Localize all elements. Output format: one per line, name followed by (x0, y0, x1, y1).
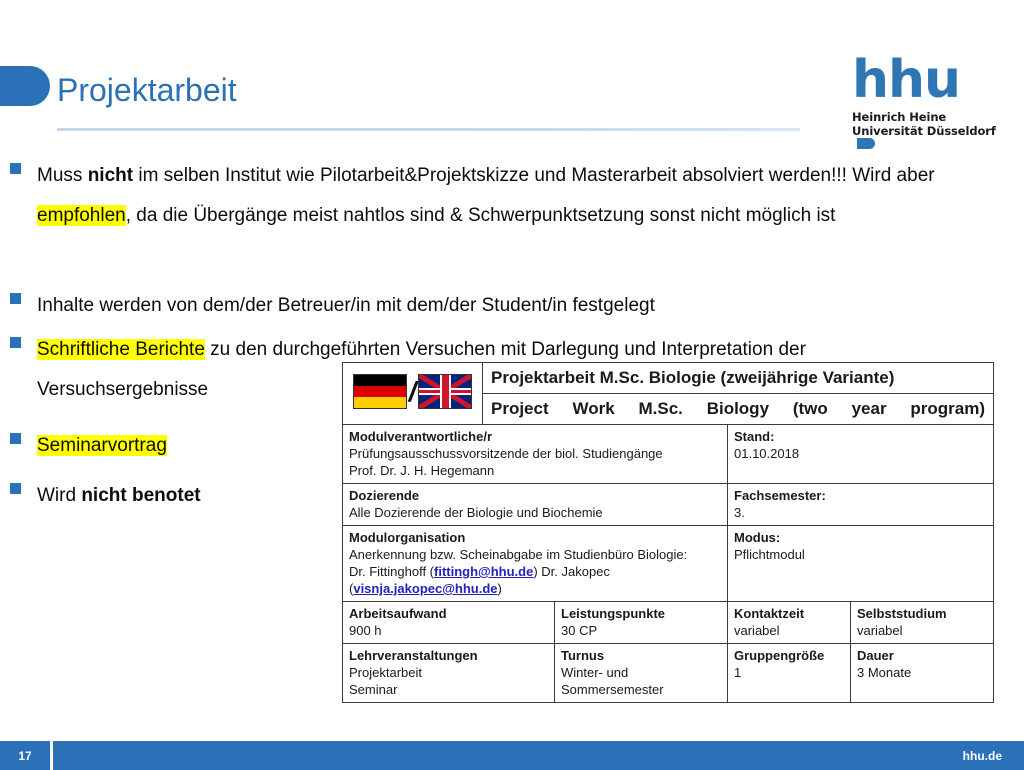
bullet-part: im selben Institut wie Pilotarbeit&Proje… (133, 165, 935, 186)
self-study-value: variabel (857, 622, 987, 639)
table-row-title-de: / Projektarbeit M.Sc. Biologie (zweijähr… (343, 363, 994, 394)
turnus-value-line1: Winter- und (561, 664, 721, 681)
table-row-responsible: Modulverantwortliche/r Prüfungsausschuss… (343, 425, 994, 484)
courses-label: Lehrveranstaltungen (349, 647, 548, 664)
workload-label: Arbeitsaufwand (349, 605, 548, 622)
footer-page-number: 17 (0, 749, 50, 763)
self-study-label: Selbststudium (857, 605, 987, 622)
flags-cell: / (343, 363, 483, 425)
bullet-part-highlight: Schriftliche Berichte (37, 339, 205, 360)
modus-cell: Modus: Pflichtmodul (728, 526, 994, 602)
organisation-text-pre: Dr. Fittinghoff ( (349, 564, 434, 579)
page-title: Projektarbeit (57, 70, 237, 110)
bullet-part: Inhalte werden von dem/der Betreuer/in m… (37, 295, 655, 316)
bullet-part-bold: nicht (88, 165, 133, 186)
bullet-item: Inhalte werden von dem/der Betreuer/in m… (10, 286, 950, 326)
turnus-value-line2: Sommersemester (561, 681, 721, 698)
bullet-text: Muss nicht im selben Institut wie Pilota… (37, 156, 950, 236)
lecturers-label: Dozierende (349, 487, 721, 504)
duration-value: 3 Monate (857, 664, 987, 681)
workload-cell: Arbeitsaufwand 900 h (343, 602, 555, 644)
workload-value: 900 h (349, 622, 548, 639)
responsible-line1: Prüfungsausschussvorsitzende der biol. S… (349, 445, 721, 462)
bullet-part: , da die Übergänge meist nahtlos sind & … (126, 205, 836, 226)
semester-cell: Fachsemester: 3. (728, 484, 994, 526)
duration-label: Dauer (857, 647, 987, 664)
contact-time-value: variabel (734, 622, 844, 639)
footer-url: hhu.de (53, 749, 1024, 763)
credits-label: Leistungspunkte (561, 605, 721, 622)
bullet-square-icon (10, 433, 21, 444)
courses-value-line2: Seminar (349, 681, 548, 698)
turnus-cell: Turnus Winter- und Sommersemester (555, 644, 728, 703)
language-flags: / (353, 374, 473, 409)
semester-value: 3. (734, 504, 987, 521)
modus-label: Modus: (734, 529, 987, 546)
contact-time-label: Kontaktzeit (734, 605, 844, 622)
stand-label: Stand: (734, 428, 987, 445)
hhu-logo-subtitle: Heinrich Heine Universität Düsseldorf (852, 111, 997, 152)
semester-label: Fachsemester: (734, 487, 987, 504)
table-row-organisation: Modulorganisation Anerkennung bzw. Schei… (343, 526, 994, 602)
bullet-text: Seminarvortrag (37, 426, 167, 466)
hhu-wordmark: hhu (852, 55, 997, 105)
bullet-square-icon (10, 293, 21, 304)
email-link-jakopec[interactable]: visnja.jakopec@hhu.de (353, 581, 497, 596)
responsible-line2: Prof. Dr. J. H. Hegemann (349, 462, 721, 479)
lecturers-line1: Alle Dozierende der Biologie und Biochem… (349, 504, 721, 521)
stand-cell: Stand: 01.10.2018 (728, 425, 994, 484)
uk-flag-icon (418, 374, 472, 409)
bullet-text: Wird nicht benotet (37, 476, 201, 516)
german-flag-icon (353, 374, 407, 409)
stand-value: 01.10.2018 (734, 445, 987, 462)
lecturers-cell: Dozierende Alle Dozierende der Biologie … (343, 484, 728, 526)
hhu-logo: hhu Heinrich Heine Universität Düsseldor… (852, 55, 997, 140)
organisation-text-post: ) (498, 581, 502, 596)
contact-time-cell: Kontaktzeit variabel (728, 602, 851, 644)
slash-separator: / (409, 378, 417, 406)
courses-cell: Lehrveranstaltungen Projektarbeit Semina… (343, 644, 555, 703)
modus-value: Pflichtmodul (734, 546, 987, 563)
email-link-fittinghoff[interactable]: fittingh@hhu.de (434, 564, 533, 579)
slide-footer: 17 hhu.de (0, 741, 1024, 770)
group-size-label: Gruppengröße (734, 647, 844, 664)
title-accent-shape (0, 66, 50, 106)
turnus-label: Turnus (561, 647, 721, 664)
bullet-square-icon (10, 337, 21, 348)
title-divider-rule (57, 128, 800, 131)
hhu-logo-blob-icon (857, 138, 875, 149)
bullet-part-bold: nicht benotet (81, 485, 200, 506)
responsible-label: Modulverantwortliche/r (349, 428, 721, 445)
table-row-workload: Arbeitsaufwand 900 h Leistungspunkte 30 … (343, 602, 994, 644)
bullet-item: Muss nicht im selben Institut wie Pilota… (10, 156, 950, 236)
module-description-table: / Projektarbeit M.Sc. Biologie (zweijähr… (342, 362, 994, 703)
module-title-de: Projektarbeit M.Sc. Biologie (zweijährig… (483, 363, 994, 394)
bullet-part-highlight: Seminarvortrag (37, 435, 167, 456)
hhu-logo-line2: Universität Düsseldorf (852, 124, 996, 138)
group-size-value: 1 (734, 664, 844, 681)
bullet-text: Inhalte werden von dem/der Betreuer/in m… (37, 286, 655, 326)
responsible-cell: Modulverantwortliche/r Prüfungsausschuss… (343, 425, 728, 484)
organisation-line1: Anerkennung bzw. Scheinabgabe im Studien… (349, 546, 721, 563)
courses-value-line1: Projektarbeit (349, 664, 548, 681)
bullet-part: Wird (37, 485, 81, 506)
organisation-line2: Dr. Fittinghoff (fittingh@hhu.de) Dr. Ja… (349, 563, 721, 597)
module-title-en: Project Work M.Sc. Biology (two year pro… (483, 394, 994, 425)
bullet-square-icon (10, 163, 21, 174)
credits-cell: Leistungspunkte 30 CP (555, 602, 728, 644)
table-row-lecturers: Dozierende Alle Dozierende der Biologie … (343, 484, 994, 526)
table-row-courses: Lehrveranstaltungen Projektarbeit Semina… (343, 644, 994, 703)
hhu-logo-line1: Heinrich Heine (852, 110, 946, 124)
organisation-label: Modulorganisation (349, 529, 721, 546)
duration-cell: Dauer 3 Monate (851, 644, 994, 703)
bullet-part: Muss (37, 165, 88, 186)
credits-value: 30 CP (561, 622, 721, 639)
organisation-cell: Modulorganisation Anerkennung bzw. Schei… (343, 526, 728, 602)
bullet-part-highlight: empfohlen (37, 205, 126, 226)
group-size-cell: Gruppengröße 1 (728, 644, 851, 703)
self-study-cell: Selbststudium variabel (851, 602, 994, 644)
bullet-square-icon (10, 483, 21, 494)
